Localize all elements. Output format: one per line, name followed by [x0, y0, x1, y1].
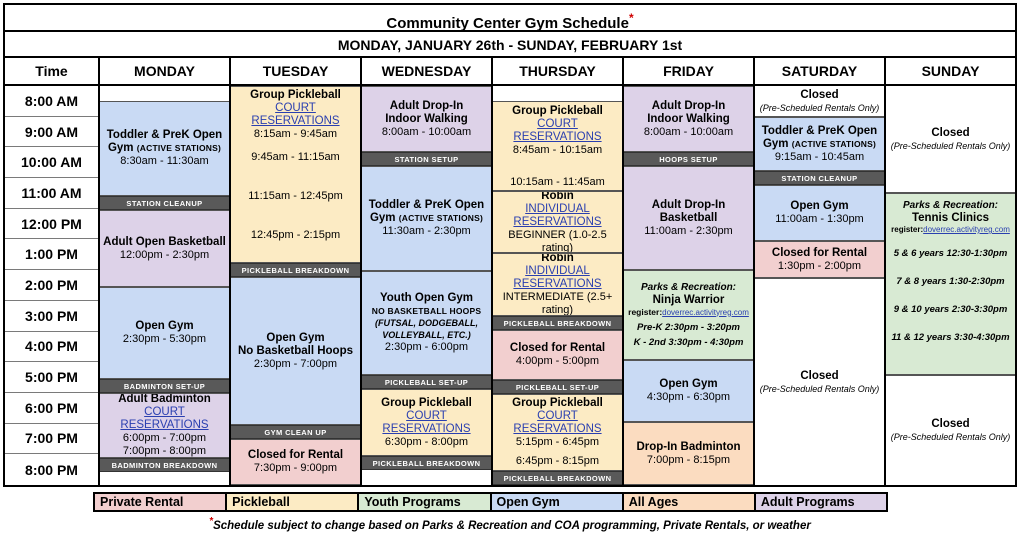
registration-link[interactable]: doverrec.activityreg.com — [923, 225, 1010, 234]
event-block[interactable]: Group Pickleball COURT RESERVATIONS 5:15… — [493, 394, 622, 471]
event-block[interactable]: Toddler & PreK Open Gym (ACTIVE STATIONS… — [362, 166, 491, 271]
footnote-text: Schedule subject to change based on Park… — [213, 520, 811, 532]
monday-column: Toddler & PreK Open Gym (ACTIVE STATIONS… — [100, 86, 231, 485]
transition-bar: STATION CLEANUP — [755, 171, 884, 185]
time-slot: 9:00 AM — [5, 117, 98, 148]
individual-reservations-link[interactable]: INDIVIDUAL RESERVATIONS — [495, 265, 620, 291]
transition-bar: PICKLEBALL BREAKDOWN — [493, 471, 622, 485]
time-slot: 6:00 PM — [5, 393, 98, 424]
event-block[interactable]: Closed (Pre-Scheduled Rentals Only) — [886, 86, 1015, 193]
header-monday: MONDAY — [100, 58, 231, 84]
event-block[interactable]: Closed for Rental 7:30pm - 9:00pm — [231, 439, 360, 485]
event-block[interactable]: Open Gym 11:00am - 1:30pm — [755, 185, 884, 241]
court-reservations-link[interactable]: COURT RESERVATIONS — [102, 406, 227, 432]
event-block[interactable]: Adult Badminton COURT RESERVATIONS 6:00p… — [100, 393, 229, 458]
time-slot: 3:00 PM — [5, 301, 98, 332]
schedule-body: 8:00 AM 9:00 AM 10:00 AM 11:00 AM 12:00 … — [5, 86, 1015, 485]
header-tuesday: TUESDAY — [231, 58, 362, 84]
transition-bar: PICKLEBALL SET-UP — [362, 375, 491, 389]
event-block[interactable]: Toddler & PreK Open Gym (ACTIVE STATIONS… — [100, 101, 229, 196]
event-block[interactable]: Toddler & PreK Open Gym (ACTIVE STATIONS… — [755, 117, 884, 171]
time-slot: 10:00 AM — [5, 147, 98, 178]
transition-bar: STATION SETUP — [362, 152, 491, 166]
event-block[interactable]: Youth Open Gym NO BASKETBALL HOOPS (FUTS… — [362, 271, 491, 375]
transition-bar: PICKLEBALL SET-UP — [493, 380, 622, 394]
court-reservations-link[interactable]: COURT RESERVATIONS — [495, 118, 620, 144]
event-block[interactable]: Adult Open Basketball 12:00pm - 2:30pm — [100, 210, 229, 287]
time-slot: 4:00 PM — [5, 332, 98, 363]
event-block[interactable]: Group Pickleball COURT RESERVATIONS 6:30… — [362, 389, 491, 456]
legend-item-private-rental: Private Rental — [95, 494, 227, 510]
event-block[interactable]: Open Gym 2:30pm - 5:30pm — [100, 287, 229, 379]
legend-item-all-ages: All Ages — [624, 494, 756, 510]
gym-schedule-page: Community Center Gym Schedule* MONDAY, J… — [0, 0, 1020, 536]
time-slot: 1:00 PM — [5, 239, 98, 270]
time-column: 8:00 AM 9:00 AM 10:00 AM 11:00 AM 12:00 … — [5, 86, 100, 485]
time-slot: 2:00 PM — [5, 270, 98, 301]
legend-item-pickleball: Pickleball — [227, 494, 359, 510]
tuesday-column: Group Pickleball COURT RESERVATIONS 8:15… — [231, 86, 362, 485]
legend-item-adult-programs: Adult Programs — [756, 494, 886, 510]
schedule-table: Community Center Gym Schedule* MONDAY, J… — [3, 3, 1017, 487]
column-headers: Time MONDAY TUESDAY WEDNESDAY THURSDAY F… — [5, 58, 1015, 86]
header-friday: FRIDAY — [624, 58, 755, 84]
event-block[interactable]: Parks & Recreation: Tennis Clinics regis… — [886, 193, 1015, 375]
header-saturday: SATURDAY — [755, 58, 886, 84]
title-asterisk: * — [629, 11, 634, 25]
legend: Private Rental Pickleball Youth Programs… — [93, 492, 888, 512]
saturday-column: Closed (Pre-Scheduled Rentals Only) Todd… — [755, 86, 886, 485]
event-block[interactable]: Adult Drop-In Basketball 11:00am - 2:30p… — [624, 166, 753, 270]
header-sunday: SUNDAY — [886, 58, 1015, 84]
event-block[interactable]: Closed for Rental 1:30pm - 2:00pm — [755, 241, 884, 278]
page-title: Community Center Gym Schedule* — [5, 5, 1015, 32]
header-wednesday: WEDNESDAY — [362, 58, 493, 84]
time-slot: 12:00 PM — [5, 209, 98, 240]
time-slot: 11:00 AM — [5, 178, 98, 209]
wednesday-column: Adult Drop-In Indoor Walking 8:00am - 10… — [362, 86, 493, 485]
event-block[interactable]: Group Pickleball COURT RESERVATIONS 8:15… — [231, 86, 360, 263]
sunday-column: Closed (Pre-Scheduled Rentals Only) Park… — [886, 86, 1015, 485]
time-slot: 5:00 PM — [5, 362, 98, 393]
transition-bar: PICKLEBALL BREAKDOWN — [231, 263, 360, 277]
page-title-text: Community Center Gym Schedule — [386, 15, 629, 32]
footnote: *Schedule subject to change based on Par… — [0, 516, 1020, 532]
thursday-column: Group Pickleball COURT RESERVATIONS 8:45… — [493, 86, 624, 485]
event-block[interactable]: Closed for Rental 4:00pm - 5:00pm — [493, 330, 622, 380]
event-block[interactable]: Open Gym 4:30pm - 6:30pm — [624, 360, 753, 422]
event-block[interactable]: Open Gym No Basketball Hoops 2:30pm - 7:… — [231, 277, 360, 425]
transition-bar: GYM CLEAN UP — [231, 425, 360, 439]
event-block[interactable]: Parks & Recreation: Ninja Warrior regist… — [624, 270, 753, 360]
friday-column: Adult Drop-In Indoor Walking 8:00am - 10… — [624, 86, 755, 485]
transition-bar: STATION CLEANUP — [100, 196, 229, 210]
transition-bar: BADMINTON BREAKDOWN — [100, 458, 229, 472]
court-reservations-link[interactable]: COURT RESERVATIONS — [233, 102, 358, 128]
transition-bar: HOOPS SETUP — [624, 152, 753, 166]
event-block[interactable]: Group Pickleball COURT RESERVATIONS 8:45… — [493, 101, 622, 191]
event-block[interactable]: Closed (Pre-Scheduled Rentals Only) — [755, 86, 884, 117]
time-slot: 8:00 AM — [5, 86, 98, 117]
event-block[interactable]: Pickleball Round Robin INDIVIDUAL RESERV… — [493, 253, 622, 316]
individual-reservations-link[interactable]: INDIVIDUAL RESERVATIONS — [495, 203, 620, 229]
legend-item-youth-programs: Youth Programs — [359, 494, 491, 510]
legend-item-open-gym: Open Gym — [492, 494, 624, 510]
registration-link[interactable]: doverrec.activityreg.com — [662, 308, 749, 317]
event-block[interactable]: Closed (Pre-Scheduled Rentals Only) — [755, 278, 884, 485]
event-block[interactable]: Closed (Pre-Scheduled Rentals Only) — [886, 375, 1015, 485]
event-block[interactable]: Pickleball Round Robin INDIVIDUAL RESERV… — [493, 191, 622, 253]
time-slot: 8:00 PM — [5, 454, 98, 485]
event-block[interactable]: Drop-In Badminton 7:00pm - 8:15pm — [624, 422, 753, 485]
court-reservations-link[interactable]: COURT RESERVATIONS — [364, 410, 489, 436]
event-block[interactable]: Adult Drop-In Indoor Walking 8:00am - 10… — [624, 86, 753, 152]
court-reservations-link[interactable]: COURT RESERVATIONS — [495, 410, 620, 436]
time-slot: 7:00 PM — [5, 424, 98, 455]
transition-bar: BADMINTON SET-UP — [100, 379, 229, 393]
date-range: MONDAY, JANUARY 26th - SUNDAY, FEBRUARY … — [5, 32, 1015, 58]
transition-bar: PICKLEBALL BREAKDOWN — [362, 456, 491, 470]
header-thursday: THURSDAY — [493, 58, 624, 84]
transition-bar: PICKLEBALL BREAKDOWN — [493, 316, 622, 330]
header-time: Time — [5, 58, 100, 84]
event-block[interactable]: Adult Drop-In Indoor Walking 8:00am - 10… — [362, 86, 491, 152]
